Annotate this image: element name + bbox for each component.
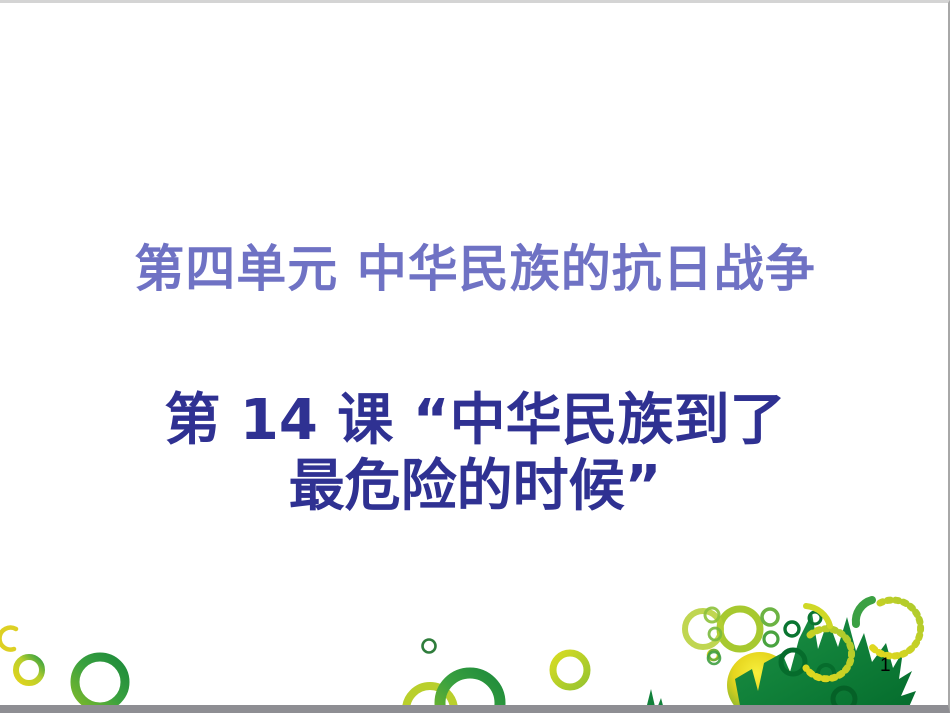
lesson-title-line-2: 最危险的时候” xyxy=(0,454,950,520)
decor-ring-small-left xyxy=(16,657,42,683)
decor-ring-yellowgreen-center xyxy=(553,653,587,687)
decor-ring-faint-left-tiny xyxy=(709,628,721,640)
decor-ring-pale-bottom xyxy=(406,686,454,713)
decoration-svg xyxy=(0,3,950,713)
decor-arc-right-green xyxy=(856,600,872,624)
decor-ring-cluster-large xyxy=(720,609,760,649)
decor-ring-strong-bottom xyxy=(440,673,500,713)
lesson-title-line-1: 第 14 课 “中华民族到了 xyxy=(0,388,950,454)
decor-arc-left-top xyxy=(806,606,830,626)
decor-ring-faint-left xyxy=(685,611,721,647)
decor-leaf-inner-ring-2 xyxy=(818,665,834,681)
decor-ring-cluster-tiny xyxy=(709,650,719,660)
decor-leaf-inner-ring-5 xyxy=(809,612,821,624)
lesson-title-container: 第 14 课 “中华民族到了 最危险的时候” xyxy=(0,388,950,520)
decor-ring-medium-left xyxy=(75,657,125,707)
decor-dotted-arc-right xyxy=(872,600,921,656)
presentation-slide: 第四单元 中华民族的抗日战争 第 14 课 “中华民族到了 最危险的时候” 1 xyxy=(0,0,950,713)
decor-leaf-inner-ring-3 xyxy=(833,688,855,710)
page-number: 1 xyxy=(880,655,891,677)
unit-title: 第四单元 中华民族的抗日战争 xyxy=(0,241,950,297)
decor-yellow-ball xyxy=(727,652,793,713)
decor-ring-cluster-small xyxy=(764,632,778,646)
decor-ring-tiny-right xyxy=(708,650,718,660)
decor-ring-cluster-mid xyxy=(762,609,778,625)
decor-dotted-arc-left xyxy=(806,629,852,679)
decor-ring-tiny-center xyxy=(423,640,436,653)
unit-title-container: 第四单元 中华民族的抗日战争 xyxy=(0,241,950,297)
decor-leaf-inner-ring-1 xyxy=(781,650,805,674)
decorative-artwork xyxy=(0,3,950,713)
decor-ring-arc-left xyxy=(0,628,16,650)
decor-grass-tuft xyxy=(645,689,665,713)
decor-leaf-inner-ring-4 xyxy=(785,622,799,636)
decor-ring-faint-left-small xyxy=(705,608,719,622)
decor-ring-faint-left-tiny2 xyxy=(708,652,720,664)
